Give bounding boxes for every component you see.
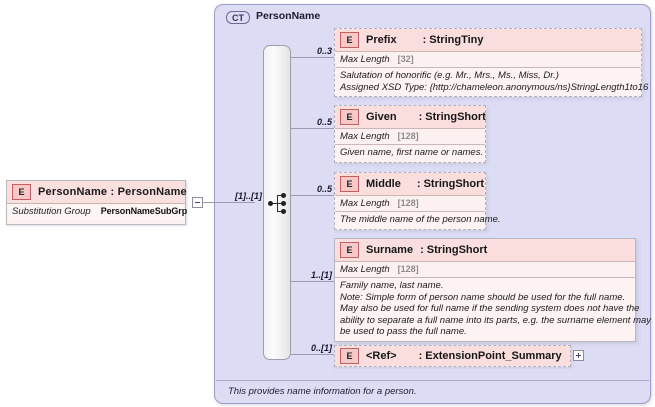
middle-doc-line: The middle name of the person name. bbox=[340, 214, 479, 226]
ref-type: : ExtensionPoint_Summary bbox=[419, 350, 562, 362]
complextype-badge: CT bbox=[226, 11, 250, 24]
surname-facet-value: [128] bbox=[398, 264, 419, 274]
element-node-surname[interactable]: E Surname : StringShort Max Length [128]… bbox=[334, 238, 636, 342]
surname-header: E Surname : StringShort bbox=[335, 239, 635, 261]
prefix-facet-value: [32] bbox=[398, 54, 414, 64]
ref-name: <Ref> bbox=[366, 350, 397, 362]
complextype-documentation: This provides name information for a per… bbox=[216, 380, 649, 402]
cardinality-surname: 1..[1] bbox=[290, 270, 332, 280]
given-header: E Given : StringShort bbox=[335, 106, 485, 128]
element-icon: E bbox=[340, 109, 359, 125]
prefix-type: : StringTiny bbox=[423, 34, 484, 46]
cardinality-prefix: 0..3 bbox=[294, 46, 332, 56]
given-facet-row: Max Length [128] bbox=[335, 128, 485, 144]
given-name: Given bbox=[366, 111, 397, 123]
cardinality-root: [1]..[1] bbox=[222, 191, 262, 201]
surname-facet-row: Max Length [128] bbox=[335, 261, 635, 277]
root-element-box[interactable]: E PersonName : PersonName Substitution G… bbox=[6, 180, 186, 225]
given-facet-value: [128] bbox=[398, 131, 419, 141]
prefix-header: E Prefix : StringTiny bbox=[335, 29, 641, 51]
connector-surname bbox=[291, 281, 334, 282]
element-icon: E bbox=[12, 184, 31, 200]
complextype-name: PersonName bbox=[256, 10, 320, 22]
surname-name: Surname bbox=[366, 244, 413, 256]
prefix-documentation: Salutation of honorific (e.g. Mr., Mrs.,… bbox=[335, 67, 641, 96]
sequence-icon bbox=[268, 192, 290, 214]
surname-doc-line: ability to separate a full name into its… bbox=[340, 315, 629, 327]
prefix-facet-label: Max Length bbox=[340, 54, 390, 65]
surname-doc-line: Family name, last name. bbox=[340, 280, 629, 292]
surname-doc-line: Note: Simple form of person name should … bbox=[340, 292, 629, 304]
connector-middle bbox=[291, 195, 334, 196]
connector-ref bbox=[291, 354, 334, 355]
cardinality-ref: 0..[1] bbox=[290, 343, 332, 353]
prefix-name: Prefix bbox=[366, 34, 397, 46]
middle-documentation: The middle name of the person name. bbox=[335, 211, 485, 229]
sequence-compositor[interactable] bbox=[263, 45, 291, 360]
xsd-diagram-canvas: CT PersonName This provides name informa… bbox=[0, 0, 655, 407]
prefix-doc-line: Salutation of honorific (e.g. Mr., Mrs.,… bbox=[340, 70, 635, 82]
element-icon: E bbox=[340, 242, 359, 258]
element-node-ref[interactable]: E <Ref> : ExtensionPoint_Summary bbox=[334, 345, 571, 367]
middle-facet-value: [128] bbox=[398, 198, 419, 208]
given-type: : StringShort bbox=[419, 111, 486, 123]
substitution-group-label: Substitution Group bbox=[12, 206, 91, 217]
surname-doc-line: May also be used for full name if the se… bbox=[340, 303, 629, 315]
surname-documentation: Family name, last name. Note: Simple for… bbox=[335, 277, 635, 341]
prefix-doc-line: Assigned XSD Type: {http://chameleon.ano… bbox=[340, 82, 635, 94]
given-documentation: Given name, first name or names. bbox=[335, 144, 485, 162]
connector-prefix bbox=[291, 57, 334, 58]
middle-type: : StringShort bbox=[417, 178, 484, 190]
element-node-middle[interactable]: E Middle : StringShort Max Length [128] … bbox=[334, 172, 486, 230]
root-element-header: E PersonName : PersonName bbox=[7, 181, 185, 203]
element-icon: E bbox=[340, 176, 359, 192]
middle-facet-row: Max Length [128] bbox=[335, 195, 485, 211]
element-node-prefix[interactable]: E Prefix : StringTiny Max Length [32] Sa… bbox=[334, 28, 642, 97]
cardinality-given: 0..5 bbox=[294, 117, 332, 127]
surname-doc-line: be used to pass the full name. bbox=[340, 326, 629, 338]
collapse-toggle-icon[interactable] bbox=[192, 197, 203, 208]
cardinality-middle: 0..5 bbox=[294, 184, 332, 194]
middle-header: E Middle : StringShort bbox=[335, 173, 485, 195]
expand-toggle-icon[interactable] bbox=[573, 350, 584, 361]
given-doc-line: Given name, first name or names. bbox=[340, 147, 479, 159]
element-icon: E bbox=[340, 32, 359, 48]
given-facet-label: Max Length bbox=[340, 131, 390, 142]
root-element-title: PersonName : PersonName bbox=[38, 186, 187, 198]
substitution-group-row: Substitution Group PersonNameSubGrp bbox=[7, 203, 185, 220]
substitution-group-value: PersonNameSubGrp bbox=[101, 206, 187, 216]
middle-facet-label: Max Length bbox=[340, 198, 390, 209]
prefix-facet-row: Max Length [32] bbox=[335, 51, 641, 67]
ref-header: E <Ref> : ExtensionPoint_Summary bbox=[335, 346, 570, 366]
element-node-given[interactable]: E Given : StringShort Max Length [128] G… bbox=[334, 105, 486, 163]
element-icon: E bbox=[340, 348, 359, 364]
connector-root-to-sequence bbox=[203, 202, 255, 203]
connector-given bbox=[291, 128, 334, 129]
middle-name: Middle bbox=[366, 178, 401, 190]
surname-type: : StringShort bbox=[420, 244, 487, 256]
surname-facet-label: Max Length bbox=[340, 264, 390, 275]
